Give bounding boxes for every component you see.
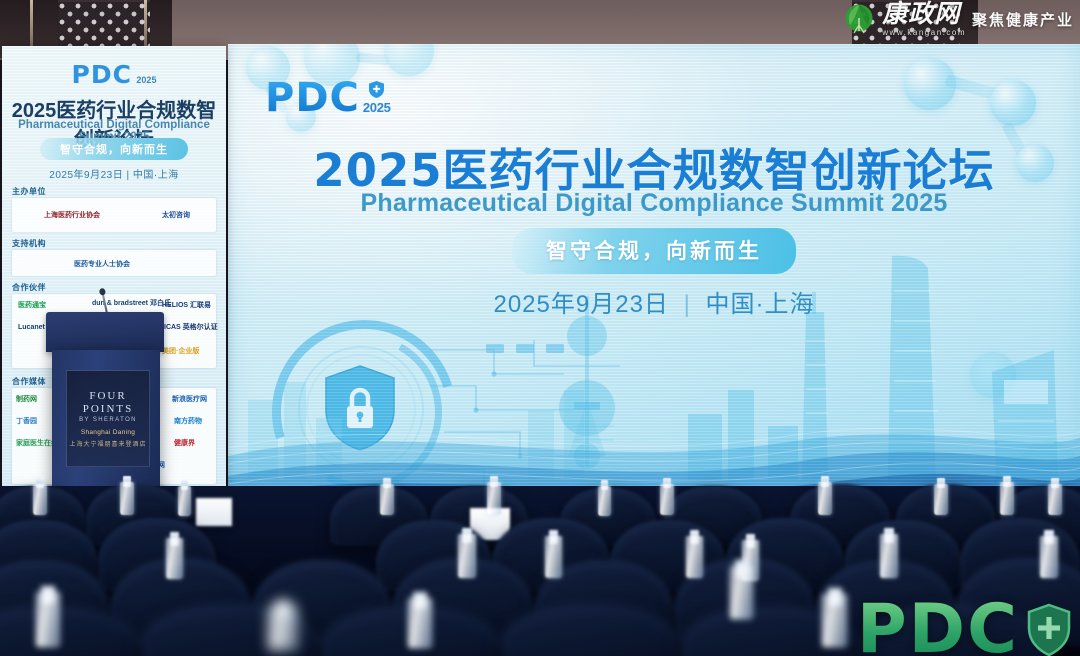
screen-slogan-wrap: 智守合规，向新而生 xyxy=(228,228,1080,274)
water-bottle-icon xyxy=(1048,478,1062,518)
podium-brand-line2: POINTS xyxy=(83,403,134,415)
banner-logo-year: 2025 xyxy=(136,75,156,85)
water-bottle-icon xyxy=(33,478,47,518)
media-logo: 新浪医疗网 xyxy=(172,394,207,404)
pdc-logo-year: 2025 xyxy=(363,100,391,115)
podium-brand-by: BY SHERATON xyxy=(79,417,137,423)
watermark-brand: 康政网 xyxy=(882,2,966,27)
podium-property: Shanghai Daning xyxy=(81,429,135,436)
banner-section-label: 支持机构 xyxy=(12,238,46,249)
table-placard xyxy=(196,498,232,526)
pdc-logo-word: PDC xyxy=(265,81,360,115)
event-date: 2025年9月23日 xyxy=(493,291,668,318)
sponsor-logo: 上海医药行业协会 xyxy=(44,210,100,220)
water-bottle-icon xyxy=(458,528,476,584)
banner-section-label: 主办单位 xyxy=(12,186,46,197)
water-bottle-icon xyxy=(36,586,60,656)
water-bottle-icon xyxy=(730,560,753,628)
water-bottle-icon xyxy=(166,532,183,584)
screen-dateline: 2025年9月23日 | 中国·上海 xyxy=(228,284,1080,319)
green-leaf-icon xyxy=(842,3,876,37)
water-bottle-icon xyxy=(660,478,674,518)
water-bottle-icon xyxy=(487,476,501,518)
shield-cross-icon xyxy=(1026,603,1072,656)
sponsor-logo: 太初咨询 xyxy=(162,210,190,220)
sponsor-logo: HELIOS 汇联易 xyxy=(162,300,211,310)
media-logo: 南方药物 xyxy=(174,416,202,426)
podium-plaque: FOUR POINTS BY SHERATON Shanghai Daning … xyxy=(66,370,150,467)
water-bottle-icon xyxy=(934,478,948,518)
water-bottle-icon xyxy=(178,480,191,518)
banner-slogan: 智守合规，向新而生 xyxy=(40,138,188,160)
sponsor-logo: 美团·企业版 xyxy=(162,346,199,356)
sponsor-logo: 医药通宝 xyxy=(18,300,46,310)
banner-logo-word: PDC xyxy=(72,60,132,89)
banner-section-label: 合作伙伴 xyxy=(12,282,46,293)
water-bottle-icon xyxy=(598,480,611,518)
shield-cross-icon xyxy=(368,80,385,99)
banner-logo-box: 上海医药行业协会 太初咨询 xyxy=(12,198,216,232)
water-bottle-icon xyxy=(268,600,298,656)
pdc-watermark-word: PDC xyxy=(857,596,1019,656)
sponsor-logo: ICAS 英格尔认证 xyxy=(164,322,218,332)
water-bottle-icon xyxy=(822,588,847,656)
event-location: 中国·上海 xyxy=(706,291,815,318)
banner-logo-box: 医药专业人士协会 xyxy=(12,250,216,276)
screen-title-en: Pharmaceutical Digital Compliance Summit… xyxy=(228,189,1080,218)
media-logo: 丁香园 xyxy=(16,416,37,426)
led-content: PDC 2025 2025医药行业合规数智创新论坛 Pharmaceutical… xyxy=(228,44,1080,518)
banner-slogan-wrap: 智守合规，向新而生 xyxy=(2,138,226,160)
water-bottle-icon xyxy=(120,476,134,518)
media-logo: 健康界 xyxy=(174,438,195,448)
water-bottle-icon xyxy=(1000,476,1014,518)
podium: FOUR POINTS BY SHERATON Shanghai Daning … xyxy=(52,350,160,505)
conference-hall-photo: PDC 2025 2025医药行业合规数智创新论坛 Pharmaceutical… xyxy=(0,0,1080,656)
pdc-watermark-bottom: PDC xyxy=(857,596,1072,656)
water-bottle-icon xyxy=(880,528,898,584)
podium-top xyxy=(46,312,164,352)
dateline-separator: | xyxy=(684,291,691,318)
water-bottle-icon xyxy=(380,478,394,518)
water-bottle-icon xyxy=(818,476,832,518)
pdc-logo: PDC 2025 xyxy=(265,80,391,115)
podium-property-cn: 上海大宁福朋喜来登酒店 xyxy=(69,439,146,448)
led-stage-screen: PDC 2025 2025医药行业合规数智创新论坛 Pharmaceutical… xyxy=(228,44,1080,518)
banner-section-label: 合作媒体 xyxy=(12,376,46,387)
banner-logo: PDC 2025 xyxy=(2,60,226,89)
water-bottle-icon xyxy=(408,592,432,656)
water-bottle-icon xyxy=(1040,530,1058,584)
podium-brand-line1: FOUR xyxy=(89,390,126,402)
banner-dateline: 2025年9月23日 | 中国·上海 xyxy=(2,166,226,181)
sponsor-logo: 医药专业人士协会 xyxy=(74,259,130,269)
water-bottle-icon xyxy=(686,530,703,584)
water-bottle-icon xyxy=(545,530,562,584)
watermark-tagline: 聚焦健康产业 xyxy=(972,9,1074,30)
site-watermark-top: 康政网 www.kangan.com 聚焦健康产业 xyxy=(842,2,1074,37)
watermark-url: www.kangan.com xyxy=(882,29,966,37)
media-logo: 制药网 xyxy=(16,394,37,404)
screen-slogan: 智守合规，向新而生 xyxy=(512,228,796,274)
